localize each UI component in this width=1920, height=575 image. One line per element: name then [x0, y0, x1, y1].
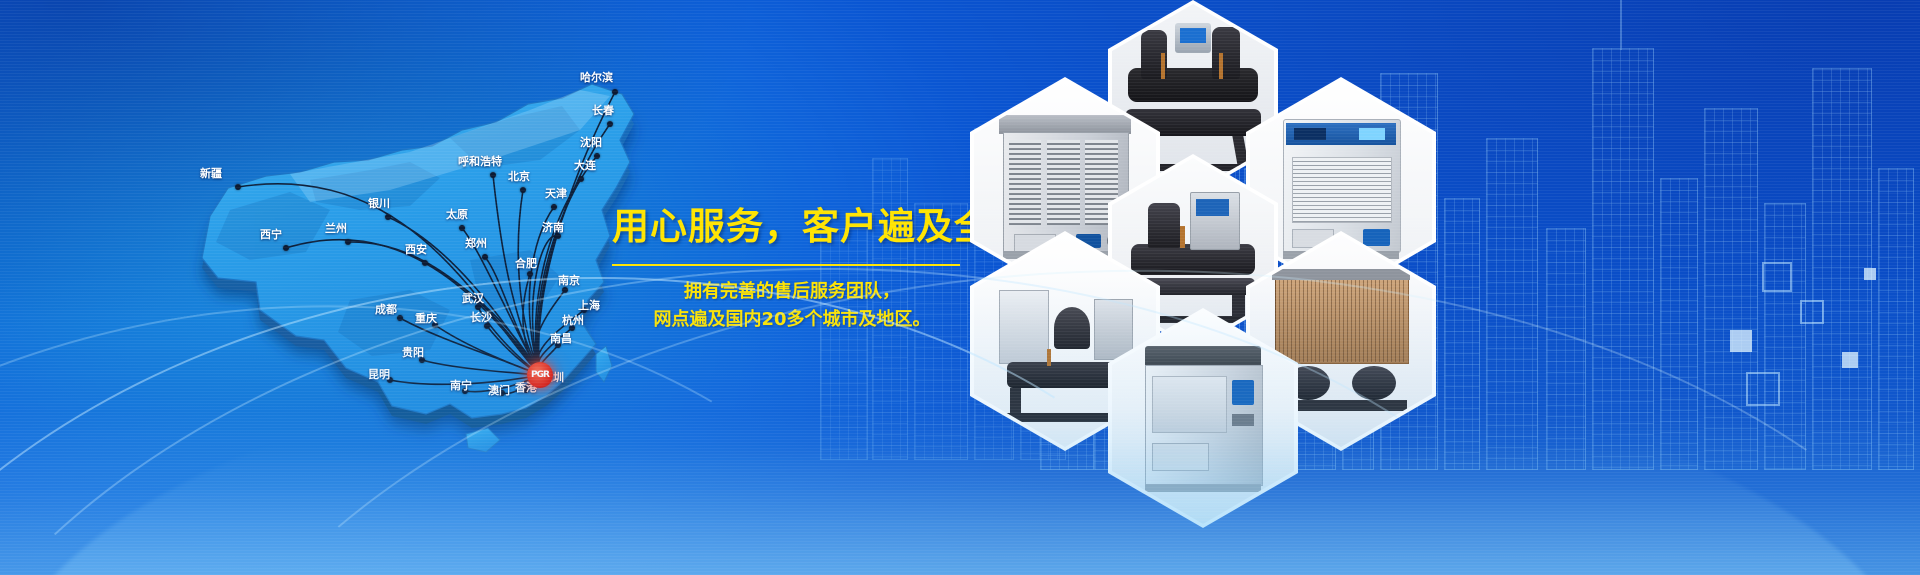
promotional-banner: 哈尔滨长春沈阳呼和浩特北京大连天津新疆银川太原济南兰州西宁西安郑州合肥南京上海武…	[0, 0, 1920, 575]
texture-overlay	[0, 0, 1920, 575]
